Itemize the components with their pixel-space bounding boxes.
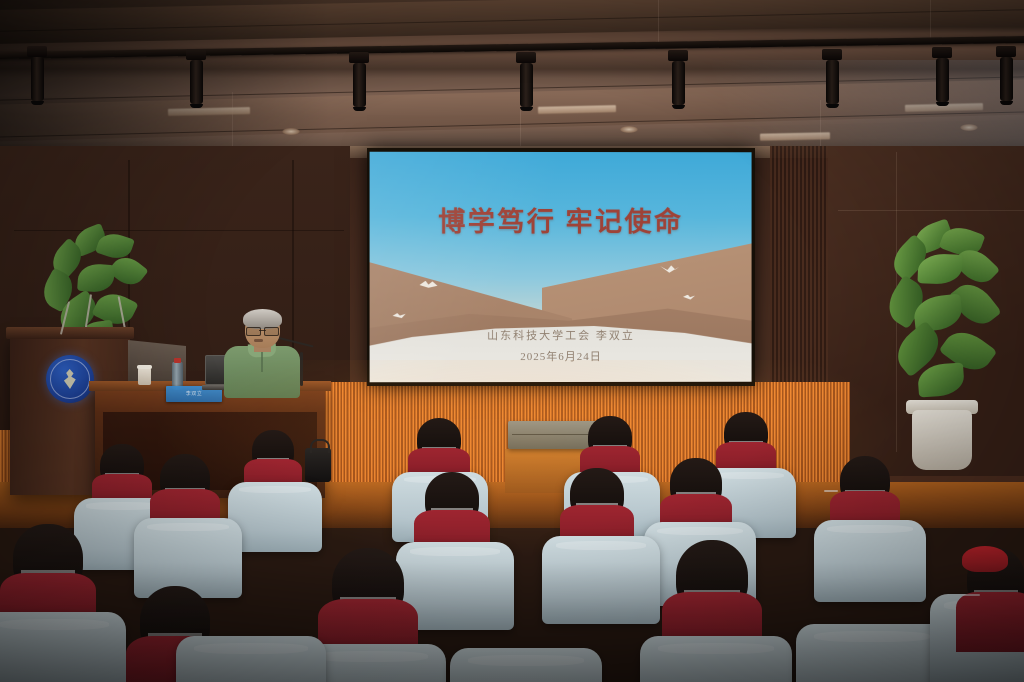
seat [542,536,660,624]
seat [450,648,602,682]
ceiling-cool-light [604,60,1024,150]
slide-date: 2025年6月24日 [370,347,752,363]
track-spotlight-icon [31,46,44,105]
track-spotlight-icon [826,49,839,108]
seat [176,636,326,682]
track-spotlight-icon [190,49,203,108]
slide-title: 博学笃行 牢记使命 [370,200,752,239]
tea-cup-icon [138,368,151,385]
eyeglasses-icon [962,594,980,596]
ceiling [0,0,1024,150]
track-spotlight-icon [936,47,949,106]
speaker-mouth [254,339,263,342]
speaker-hair [243,309,282,329]
lecture-hall-photo: 博学笃行 牢记使命 山东科技大学工会 李双立 2025年6月24日 [0,0,1024,682]
audience [0,398,1024,682]
track-spotlight-icon [672,50,685,109]
wall-seam [838,210,1024,211]
seat [814,520,926,602]
handbag-icon [305,448,331,482]
projection-screen: 博学笃行 牢记使命 山东科技大学工会 李双立 2025年6月24日 [370,152,752,383]
seat [796,624,948,682]
seat [640,636,792,682]
red-cap-icon [962,546,1008,572]
ceiling-seam [658,0,659,46]
seat [228,482,322,552]
track-spotlight-icon [520,52,533,111]
university-emblem [46,355,94,403]
ceiling-shadow [0,0,330,150]
slide-subtitle: 山东科技大学工会 李双立 [370,327,752,343]
eyeglasses-icon [246,327,279,334]
speaker-placket [261,352,263,372]
track-spotlight-icon [353,52,366,111]
speaker-person [224,312,300,394]
microphone-stand [300,352,303,386]
podium-top [6,327,134,339]
seat [0,612,126,682]
track-spotlight-icon [1000,46,1013,105]
